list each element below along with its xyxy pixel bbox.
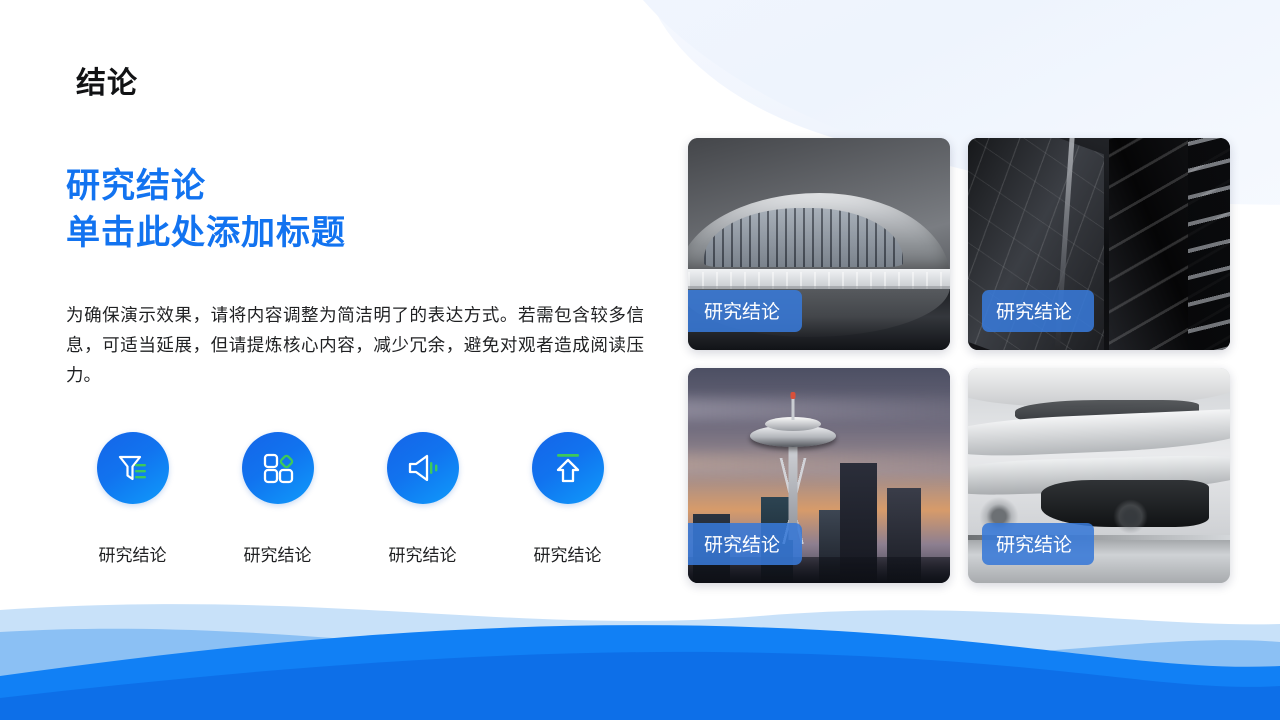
image-card-caption-1: 研究结论: [688, 290, 802, 332]
feature-label-1: 研究结论: [99, 541, 167, 566]
feature-icon-row: 研究结论 研究结论 研究结论: [60, 432, 640, 566]
headline-line-1: 研究结论: [66, 167, 206, 205]
filter-icon[interactable]: [97, 432, 169, 504]
feature-item-3[interactable]: 研究结论: [350, 432, 495, 566]
bottom-wave-decoration: [0, 580, 1280, 720]
feature-item-4[interactable]: 研究结论: [495, 432, 640, 566]
image-card-grid: 研究结论 研究结论 研究结论: [688, 138, 1230, 598]
feature-item-2[interactable]: 研究结论: [205, 432, 350, 566]
image-card-2[interactable]: 研究结论: [968, 138, 1230, 350]
body-paragraph: 为确保演示效果，请将内容调整为简洁明了的表达方式。若需包含较多信息，可适当延展，…: [66, 300, 644, 390]
image-card-caption-2: 研究结论: [982, 290, 1094, 332]
speaker-icon[interactable]: [387, 432, 459, 504]
feature-label-2: 研究结论: [244, 541, 312, 566]
image-card-1[interactable]: 研究结论: [688, 138, 950, 350]
slide-canvas: 结论 研究结论 单击此处添加标题 为确保演示效果，请将内容调整为简洁明了的表达方…: [0, 0, 1280, 720]
image-card-4[interactable]: 研究结论: [968, 368, 1230, 583]
image-card-3[interactable]: 研究结论: [688, 368, 950, 583]
upload-icon[interactable]: [532, 432, 604, 504]
feature-item-1[interactable]: 研究结论: [60, 432, 205, 566]
image-card-caption-4: 研究结论: [982, 523, 1094, 565]
feature-label-3: 研究结论: [389, 541, 457, 566]
page-title: 结论: [76, 58, 138, 102]
feature-label-4: 研究结论: [534, 541, 602, 566]
grid-apps-icon[interactable]: [242, 432, 314, 504]
headline: 研究结论 单击此处添加标题: [66, 163, 346, 257]
image-card-caption-3: 研究结论: [688, 523, 802, 565]
headline-line-2: 单击此处添加标题: [66, 210, 346, 257]
